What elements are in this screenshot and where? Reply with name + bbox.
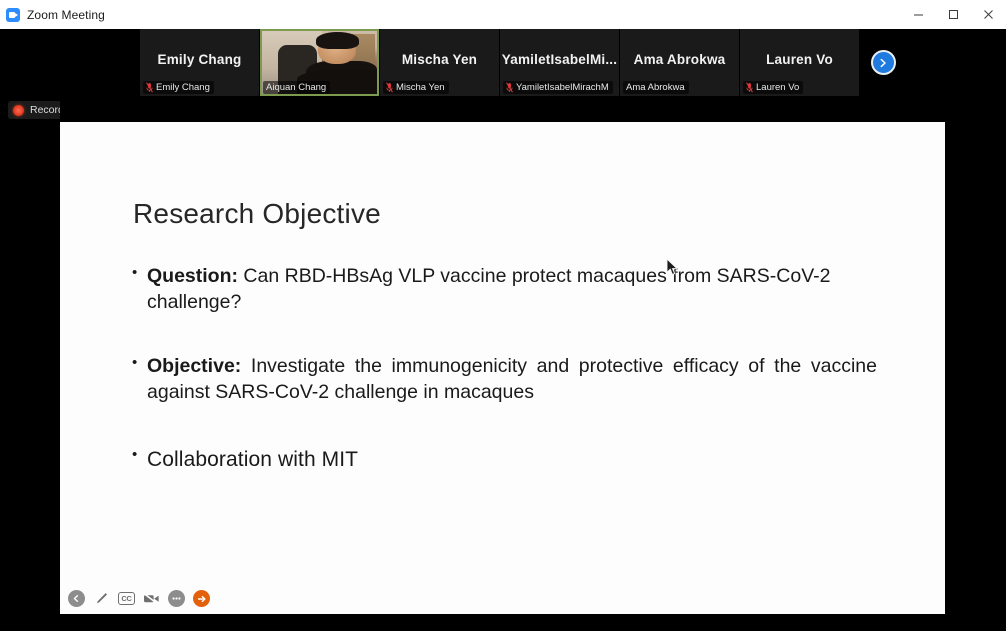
slide-title: Research Objective [133,198,381,230]
closed-caption-icon[interactable]: CC [118,592,135,605]
maximize-button[interactable] [936,0,971,29]
participant-display-name: Mischa Yen [399,52,480,67]
shared-screen-region: Research Objective Question: Can RBD-HBs… [60,96,945,631]
slide-bullet-objective: Objective: Investigate the immunogenicit… [132,354,877,406]
zoom-icon [6,8,20,22]
participant-chip-label: Ama Abrokwa [626,82,685,93]
mic-muted-icon [506,82,513,93]
back-arrow-icon[interactable] [68,590,85,607]
annotation-toolbar: CC [68,590,210,607]
filmstrip-next-button[interactable] [860,29,906,96]
participant-display-name: Lauren Vo [763,52,836,67]
cc-label: CC [121,594,131,603]
presentation-slide: Research Objective Question: Can RBD-HBs… [60,122,945,614]
participant-name-chip: Aiquan Chang [263,81,330,94]
mouse-cursor [666,258,679,282]
participant-tile[interactable]: Ama Abrokwa Ama Abrokwa [620,29,740,96]
bullet-lead-label: Objective: [147,355,241,377]
bullet-body-text: Can RBD-HBsAg VLP vaccine protect macaqu… [147,265,830,313]
participant-tile[interactable]: YamiletIsabelMi... YamiletIsabelMirachM [500,29,620,96]
participant-tile[interactable]: Mischa Yen Mischa Yen [380,29,500,96]
participant-tile[interactable]: Emily Chang Emily Chang [140,29,260,96]
participant-strip: Emily Chang Emily Chang A [0,29,1006,96]
bullet-lead-label: Question: [147,265,238,287]
chevron-right-icon [871,50,896,75]
participant-chip-label: Lauren Vo [756,82,799,93]
mic-muted-icon [386,82,393,93]
participant-chip-label: YamiletIsabelMirachM [516,82,609,93]
forward-arrow-icon[interactable] [193,590,210,607]
slide-bullet-list: Question: Can RBD-HBsAg VLP vaccine prot… [132,264,877,474]
participant-tile[interactable]: Lauren Vo Lauren Vo [740,29,860,96]
video-off-icon[interactable] [143,590,160,607]
window-title: Zoom Meeting [27,8,105,22]
participant-chip-label: Mischa Yen [396,82,445,93]
participant-name-chip: Emily Chang [143,81,214,94]
mic-muted-icon [746,82,753,93]
minimize-button[interactable] [901,0,936,29]
participant-chip-label: Emily Chang [156,82,210,93]
more-options-icon[interactable] [168,590,185,607]
pen-icon[interactable] [93,590,110,607]
bullet-body-text: Collaboration with MIT [147,448,358,471]
participant-display-name: Emily Chang [155,52,245,67]
participant-name-chip: Mischa Yen [383,81,449,94]
close-button[interactable] [971,0,1006,29]
bullet-body-text: Investigate the immunogenicity and prote… [147,355,877,403]
slide-bullet-question: Question: Can RBD-HBsAg VLP vaccine prot… [132,264,877,316]
filmstrip: Emily Chang Emily Chang A [140,29,906,96]
participant-chip-label: Aiquan Chang [266,82,326,93]
mic-muted-icon [146,82,153,93]
slide-bullet-collaboration: Collaboration with MIT [132,446,877,474]
video-person-hair [316,32,359,48]
zoom-meeting-window: Zoom Meeting Emily Chang Emily Chang [0,0,1006,631]
participant-display-name: Ama Abrokwa [631,52,729,67]
title-bar: Zoom Meeting [0,0,1006,29]
participant-name-chip: Lauren Vo [743,81,803,94]
recording-dot-icon [13,105,24,116]
participant-name-chip: Ama Abrokwa [623,81,689,94]
participant-tile-active-speaker[interactable]: Aiquan Chang [260,29,380,96]
window-controls [901,0,1006,29]
participant-display-name: YamiletIsabelMi... [500,52,620,67]
participant-name-chip: YamiletIsabelMirachM [503,81,613,94]
